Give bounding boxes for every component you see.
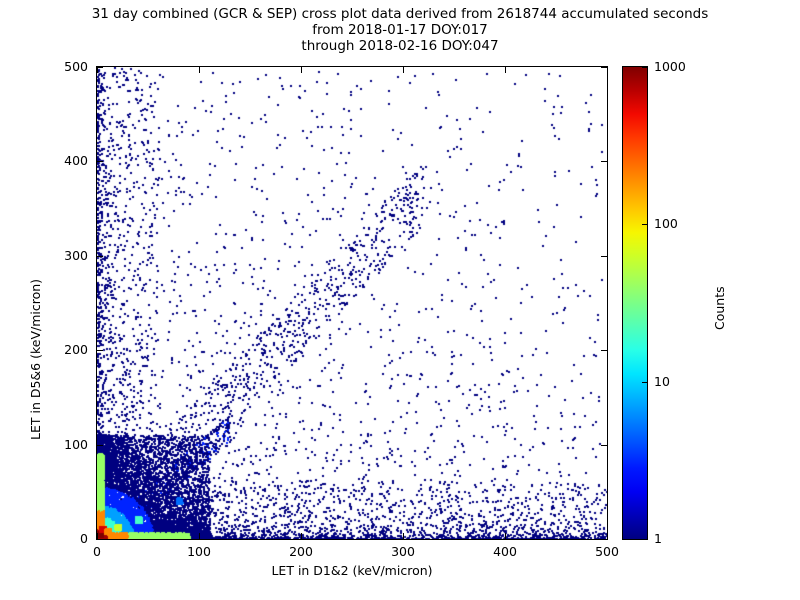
- y-tick-mark-right: [601, 445, 607, 446]
- x-tick-label: 500: [577, 544, 637, 559]
- colorbar-tick-mark: [642, 224, 647, 225]
- y-tick-label: 300: [28, 248, 88, 263]
- colorbar-tick-label: 100: [654, 216, 714, 231]
- colorbar-tick-label: 10: [654, 374, 714, 389]
- x-tick-mark-top: [505, 67, 506, 73]
- x-tick-label: 0: [67, 544, 127, 559]
- y-tick-mark: [97, 256, 103, 257]
- x-tick-label: 300: [373, 544, 433, 559]
- x-tick-mark: [403, 533, 404, 539]
- x-tick-label: 400: [475, 544, 535, 559]
- chart-title: 31 day combined (GCR & SEP) cross plot d…: [0, 6, 800, 54]
- scatter-points-canvas: [97, 67, 607, 539]
- y-tick-label: 0: [28, 531, 88, 546]
- colorbar-tick-mark: [642, 67, 647, 68]
- title-line-1: 31 day combined (GCR & SEP) cross plot d…: [0, 6, 800, 22]
- y-tick-mark-right: [601, 256, 607, 257]
- colorbar-tick-mark: [642, 382, 647, 383]
- x-tick-mark-top: [301, 67, 302, 73]
- x-tick-mark-top: [607, 67, 608, 73]
- title-line-3: through 2018-02-16 DOY:047: [0, 38, 800, 54]
- y-tick-mark: [97, 350, 103, 351]
- y-tick-mark: [97, 539, 103, 540]
- y-tick-mark-right: [601, 350, 607, 351]
- colorbar: [622, 66, 648, 540]
- x-tick-mark: [607, 533, 608, 539]
- x-tick-mark: [199, 533, 200, 539]
- x-tick-mark-top: [403, 67, 404, 73]
- scatter-plot-area: [96, 66, 608, 540]
- y-tick-label: 400: [28, 153, 88, 168]
- x-tick-label: 200: [271, 544, 331, 559]
- y-tick-label: 500: [28, 59, 88, 74]
- x-tick-mark: [505, 533, 506, 539]
- colorbar-tick-label: 1: [654, 531, 714, 546]
- colorbar-tick-label: 1000: [654, 59, 714, 74]
- y-tick-mark: [97, 445, 103, 446]
- colorbar-tick-mark: [642, 539, 647, 540]
- x-tick-label: 100: [169, 544, 229, 559]
- colorbar-label: Counts: [712, 286, 727, 330]
- y-tick-mark: [97, 67, 103, 68]
- colorbar-gradient: [623, 67, 647, 539]
- x-axis-label: LET in D1&2 (keV/micron): [96, 563, 608, 578]
- y-tick-mark-right: [601, 67, 607, 68]
- y-axis-label: LET in D5&6 (keV/micron): [28, 279, 43, 440]
- y-tick-mark-right: [601, 161, 607, 162]
- x-tick-mark: [301, 533, 302, 539]
- x-tick-mark-top: [199, 67, 200, 73]
- y-tick-mark: [97, 161, 103, 162]
- title-line-2: from 2018-01-17 DOY:017: [0, 22, 800, 38]
- y-tick-mark-right: [601, 539, 607, 540]
